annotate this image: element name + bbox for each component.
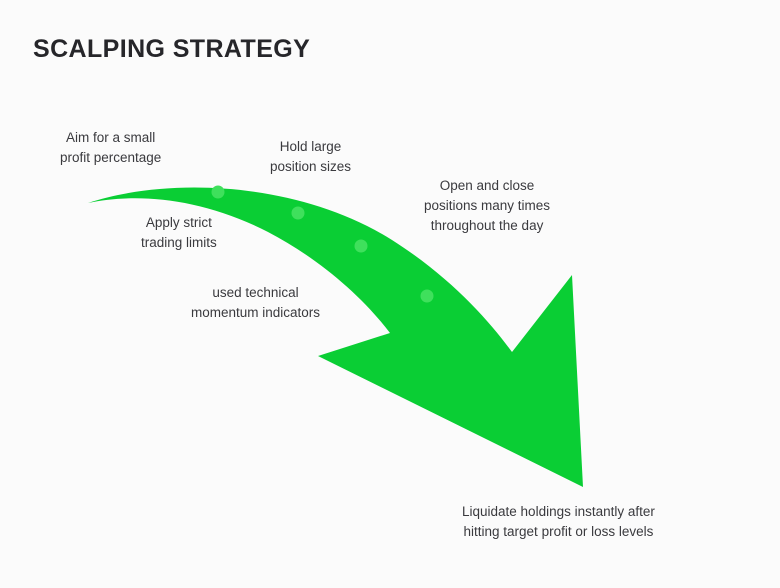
callout-line: position sizes bbox=[270, 157, 351, 177]
callout-used-technical-momentum-indicators: used technical momentum indicators bbox=[191, 283, 320, 323]
callout-apply-strict-trading-limits: Apply strict trading limits bbox=[141, 213, 217, 253]
callout-line: momentum indicators bbox=[191, 303, 320, 323]
callout-line: Open and close bbox=[424, 176, 550, 196]
callout-line: profit percentage bbox=[60, 148, 161, 168]
callout-line: positions many times bbox=[424, 196, 550, 216]
curved-arrow-svg bbox=[0, 0, 780, 583]
arrow-marker-dot bbox=[421, 290, 434, 303]
arrow-marker-dot bbox=[292, 207, 305, 220]
callout-line: throughout the day bbox=[424, 216, 550, 236]
arrow-diagram bbox=[0, 0, 780, 583]
callout-hold-large-position-sizes: Hold large position sizes bbox=[270, 137, 351, 177]
callout-line: trading limits bbox=[141, 233, 217, 253]
callout-line: used technical bbox=[191, 283, 320, 303]
callout-line: Hold large bbox=[270, 137, 351, 157]
callout-line: Apply strict bbox=[141, 213, 217, 233]
callout-line: Liquidate holdings instantly after bbox=[462, 502, 655, 522]
callout-aim-for-small-profit: Aim for a small profit percentage bbox=[60, 128, 161, 168]
callout-open-and-close-positions: Open and close positions many times thro… bbox=[424, 176, 550, 236]
callout-line: Aim for a small bbox=[60, 128, 161, 148]
arrow-marker-dot bbox=[212, 186, 225, 199]
arrow-marker-dot bbox=[355, 240, 368, 253]
callout-liquidate-holdings: Liquidate holdings instantly after hitti… bbox=[462, 502, 655, 542]
infographic-canvas: SCALPING STRATEGY Aim for a small profit… bbox=[0, 0, 780, 583]
callout-line: hitting target profit or loss levels bbox=[462, 522, 655, 542]
